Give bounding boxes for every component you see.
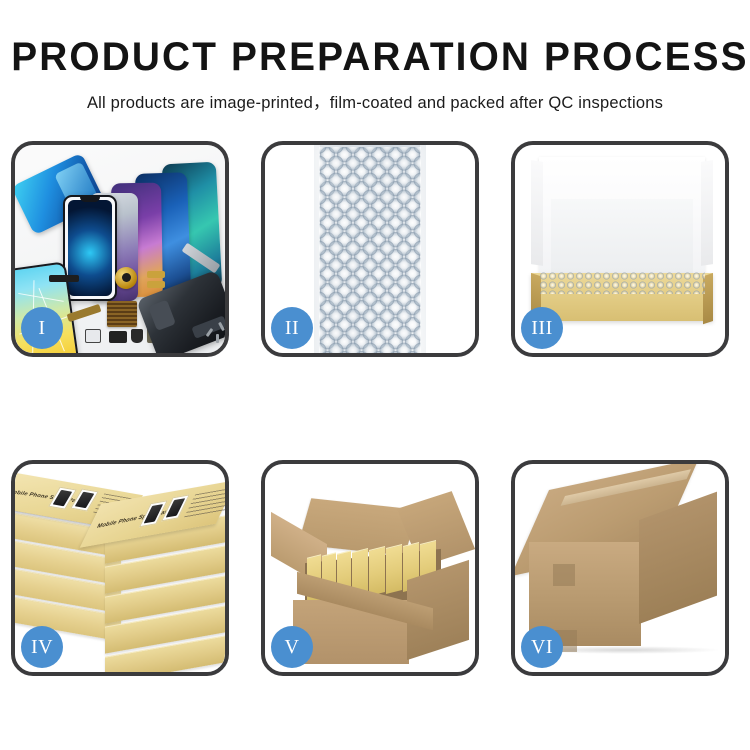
charging-port-icon [131, 329, 143, 343]
bubble-wrap-seal-edges [314, 145, 426, 353]
sealed-shipping-carton [525, 490, 721, 650]
process-step-4: Mobile Phone Spare Parts Mobile Phone Sp… [11, 460, 229, 676]
page-subtitle: All products are image-printed，film-coat… [0, 89, 750, 113]
bubble-wrapped-contents [539, 272, 705, 294]
sim-tray-icon [85, 329, 101, 343]
retail-box-spec-lines-front [184, 486, 225, 518]
inner-box-6 [386, 544, 402, 594]
white-box-lid [539, 157, 705, 273]
step-badge-2: II [271, 307, 313, 349]
page-header: PRODUCT PREPARATION PROCESS All products… [0, 0, 750, 113]
step-badge-1: I [21, 307, 63, 349]
process-step-1: I [11, 141, 229, 357]
bubble-wrap-pouch [314, 145, 426, 353]
process-step-5: V [261, 460, 479, 676]
process-step-2: II [261, 141, 479, 357]
process-step-grid: I II III [11, 141, 742, 676]
screw-1-icon [216, 334, 219, 343]
phone-notch-icon [80, 197, 100, 202]
step-badge-6: VI [521, 626, 563, 668]
connector-chip-icon [107, 301, 137, 327]
white-box-lid-inner [551, 199, 693, 273]
vibrator-motor-icon [109, 331, 127, 343]
step-badge-4: IV [21, 626, 63, 668]
carton-handle-tab-top [553, 564, 575, 586]
small-flex-part-a-icon [147, 271, 165, 278]
page-title: PRODUCT PREPARATION PROCESS [11, 36, 739, 78]
process-step-3: III [511, 141, 729, 357]
process-step-6: VI [511, 460, 729, 676]
camera-module-icon [115, 267, 137, 289]
small-flex-part-b-icon [147, 281, 165, 288]
step-badge-5: V [271, 626, 313, 668]
step-badge-3: III [521, 307, 563, 349]
earpiece-speaker-icon [49, 275, 79, 282]
inner-box-5 [369, 546, 385, 596]
flex-cable-left-icon [67, 304, 102, 322]
